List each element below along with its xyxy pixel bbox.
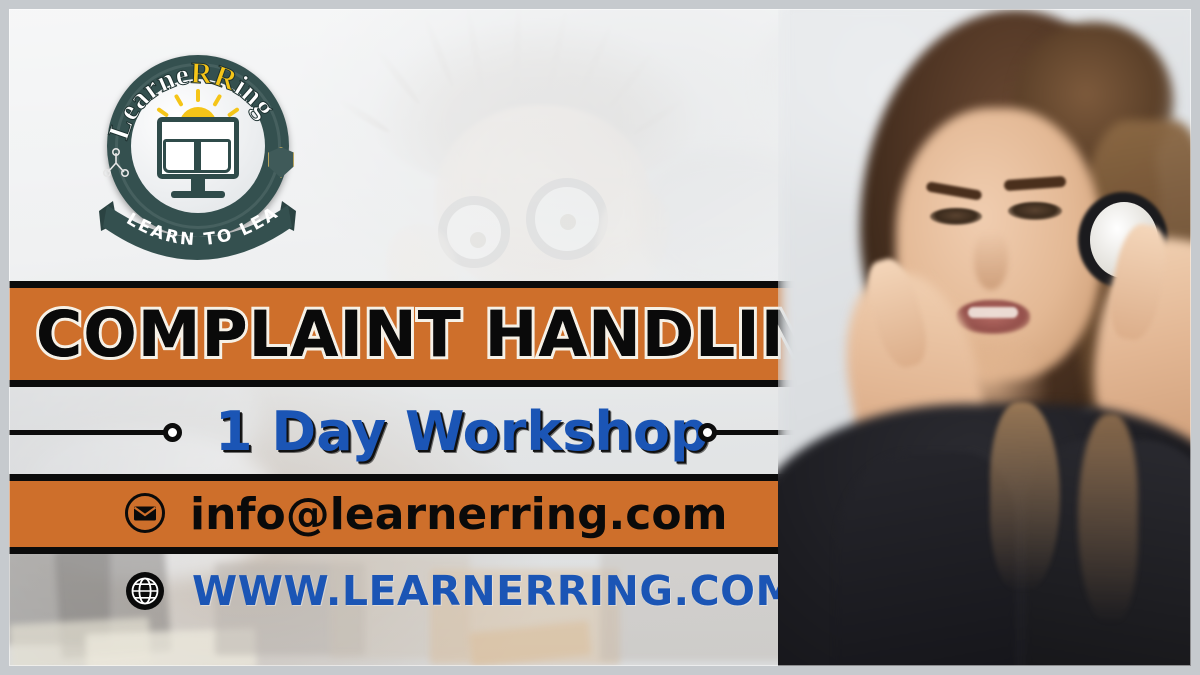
subtitle: 1 Day Workshop: [215, 400, 709, 464]
rule-below-title: [0, 380, 868, 387]
sleeve-left: [836, 452, 1016, 675]
divider-dot-right: [698, 423, 717, 442]
globe-icon[interactable]: [124, 570, 166, 612]
divider-line-left: [0, 430, 168, 435]
rule-above-email: [0, 474, 868, 481]
teeth: [968, 307, 1018, 318]
email-address[interactable]: info@learnerring.com: [190, 489, 727, 541]
rule-above-title: [0, 281, 868, 288]
hair-strand-b: [1078, 414, 1138, 624]
envelope-icon[interactable]: [124, 492, 166, 534]
hair-strand-a: [990, 402, 1060, 592]
nose: [974, 232, 1008, 290]
logo-tagline-ribbon: LEARN TO LEAD: [95, 183, 300, 265]
promo-banner: LearneRRing: [0, 0, 1200, 675]
network-node-icon: [101, 147, 131, 181]
brand-logo[interactable]: LearneRRing: [95, 55, 300, 270]
eye-right: [1008, 202, 1062, 220]
website-url[interactable]: WWW.LEARNERRING.COM: [192, 566, 797, 616]
page-title-fill: COMPLAINT HANDLING: [36, 297, 867, 373]
divider-dot-left: [163, 423, 182, 442]
rule-below-email: [0, 547, 868, 554]
open-book-icon: [163, 139, 233, 173]
eye-left: [930, 208, 982, 225]
